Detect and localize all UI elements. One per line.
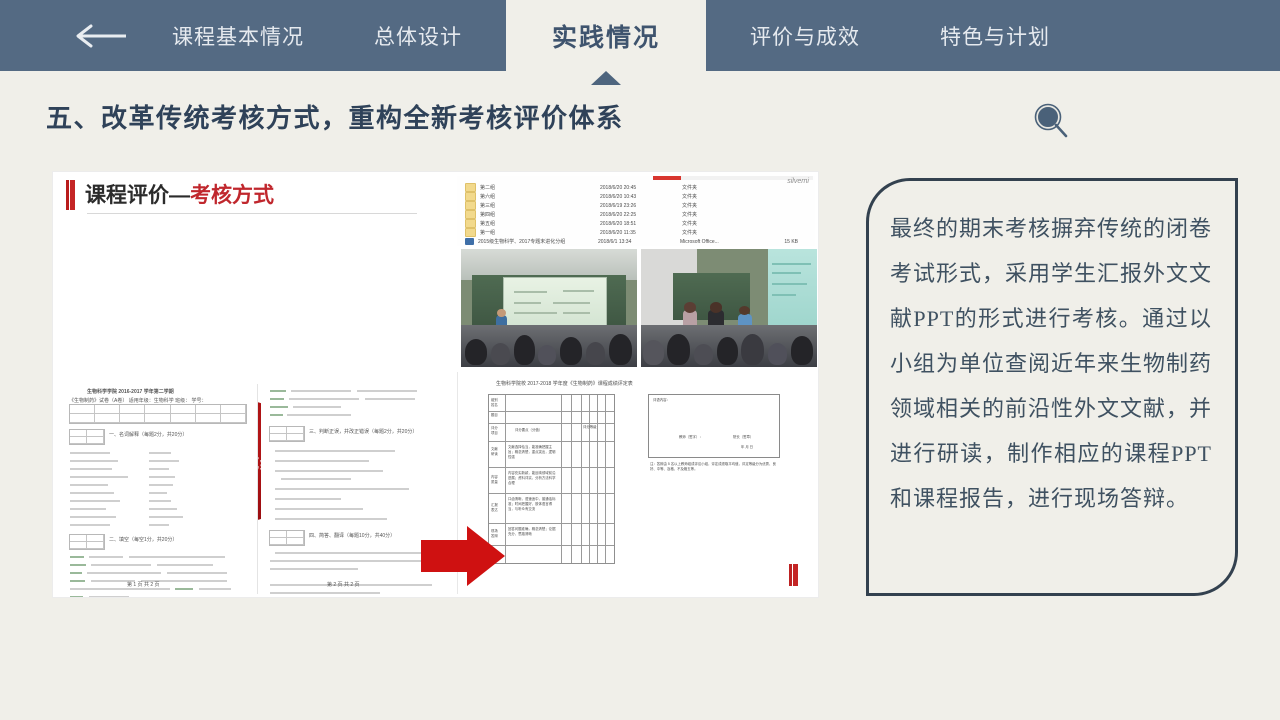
nav-spacer xyxy=(484,0,506,71)
tab-course-basics[interactable]: 课程基本情况 xyxy=(150,0,326,71)
red-bar-decoration xyxy=(66,180,75,210)
file-row[interactable]: 第五组 2018/6/20 18:51 文件夹 xyxy=(465,219,810,228)
file-size: 15 KB xyxy=(758,239,798,245)
tab-features-plan[interactable]: 特色与计划 xyxy=(918,0,1072,71)
file-date: 2018/6/20 10:43 xyxy=(600,194,682,200)
file-row[interactable]: 第四组 2018/6/20 22:25 文件夹 xyxy=(465,210,810,219)
exam-paper-page-left: 生物科学学院 2016-2017 学年第二学期 《生物制药》试卷（A卷） 适用年… xyxy=(61,384,258,594)
section-score-box xyxy=(269,426,305,442)
signature-date-field: 年 月 日 xyxy=(741,445,753,450)
folder-icon xyxy=(465,210,476,219)
classroom-photo-1 xyxy=(461,249,637,367)
file-type: 文件夹 xyxy=(682,202,760,209)
tab-practice-status[interactable]: 实践情况 xyxy=(506,0,706,71)
audience-row xyxy=(461,325,637,367)
arrow-right-icon xyxy=(421,524,505,588)
powerpoint-icon xyxy=(465,238,474,245)
file-name: 第一组 xyxy=(480,229,600,236)
presenter-head xyxy=(684,302,696,313)
file-type: Microsoft Office... xyxy=(680,239,758,245)
file-date: 2018/6/20 22:25 xyxy=(600,212,682,218)
folder-icon xyxy=(465,192,476,201)
file-type: 文件夹 xyxy=(682,229,760,236)
tab-evaluation-results[interactable]: 评价与成效 xyxy=(728,0,882,71)
top-navbar: 课程基本情况 总体设计 实践情况 评价与成效 特色与计划 xyxy=(0,0,1280,71)
quote-text: 最终的期末考核摒弃传统的闭卷考试形式，采用学生汇报外文文献PPT的形式进行考核。… xyxy=(890,206,1212,521)
audience-row xyxy=(641,325,817,367)
file-date: 2018/6/20 18:51 xyxy=(600,221,682,227)
presenter-head xyxy=(739,306,750,315)
projection-wall xyxy=(768,249,817,327)
folder-icon xyxy=(465,201,476,210)
slide-screenshot[interactable]: 课程评价—考核方式 期末成绩 期末考核 （50%） 生物科学学院 2016-20… xyxy=(53,172,818,597)
exam-paper-heading: 生物科学学院 2016-2017 学年第二学期 xyxy=(87,388,174,395)
folder-icon xyxy=(465,219,476,228)
file-type: 文件夹 xyxy=(682,184,760,191)
red-bar-decoration xyxy=(789,564,798,586)
page-number: 第 2 页 共 2 页 xyxy=(327,581,360,588)
page-title: 五、改革传统考核方式，重构全新考核评价体系 xyxy=(46,98,624,135)
folder-icon xyxy=(465,183,476,192)
nav-spacer xyxy=(326,0,352,71)
projector-screen xyxy=(503,277,607,329)
grading-form-note: 注：答辩由 5 名以上教师组成评议小组，评定成绩取平均值，评定等级分为优秀、良好… xyxy=(650,462,780,472)
section-score-box xyxy=(269,530,305,546)
grading-table: 组别姓名 题目 评分项目 评分要点（分值） 评分等级 文献研读 文献选择恰当，能… xyxy=(488,394,615,564)
page-number: 第 1 页 共 2 页 xyxy=(127,581,160,588)
shot-title-red: 考核方式 xyxy=(190,184,274,207)
file-date: 2018/6/19 23:26 xyxy=(600,203,682,209)
file-row[interactable]: 2015级生物科学、2017专题末进化分组 2018/6/1 13:34 Mic… xyxy=(465,237,810,246)
file-row[interactable]: 第三组 2018/6/19 23:26 文件夹 xyxy=(465,201,810,210)
arrow-left-icon xyxy=(72,23,128,49)
file-date: 2018/6/20 20:45 xyxy=(600,185,682,191)
score-table xyxy=(69,404,247,424)
shot-header: 课程评价—考核方式 xyxy=(53,172,438,216)
section-2-heading: 二、填空（每空1分，共20分） xyxy=(109,536,177,543)
tab-overall-design[interactable]: 总体设计 xyxy=(352,0,484,71)
file-date: 2018/6/20 11:35 xyxy=(600,230,682,236)
section-score-box xyxy=(69,429,105,445)
file-row[interactable]: 第六组 2018/6/20 10:43 文件夹 xyxy=(465,192,810,201)
folder-icon xyxy=(465,228,476,237)
section-score-box xyxy=(69,534,105,550)
file-type: 文件夹 xyxy=(682,211,760,218)
slide-root: 课程基本情况 总体设计 实践情况 评价与成效 特色与计划 五、改革传统考核方式，… xyxy=(0,0,1280,720)
classroom-photo-2 xyxy=(641,249,817,367)
file-name: 第四组 xyxy=(480,211,600,218)
file-name: 第六组 xyxy=(480,193,600,200)
nav-spacer xyxy=(882,0,918,71)
file-date: 2018/6/1 13:34 xyxy=(598,239,680,245)
nav-spacer xyxy=(706,0,728,71)
section-1-heading: 一、名词解释（每题2分，共20分） xyxy=(109,431,187,438)
section-3-heading: 三、判断正误，并改正错误（每题2分，共20分） xyxy=(309,428,417,435)
file-row[interactable]: 第二组 2018/6/20 20:45 文件夹 xyxy=(465,183,810,192)
file-explorer-list: silverni 第二组 2018/6/20 20:45 文件夹 第六组 201… xyxy=(457,176,815,246)
file-name: 第五组 xyxy=(480,220,600,227)
file-row[interactable]: 第一组 2018/6/20 11:35 文件夹 xyxy=(465,228,810,237)
file-name: 第二组 xyxy=(480,184,600,191)
nav-tab-list: 课程基本情况 总体设计 实践情况 评价与成效 特色与计划 xyxy=(150,0,1072,71)
file-type: 文件夹 xyxy=(682,220,760,227)
section-4-heading: 四、简答、翻译（每题10分，共40分） xyxy=(309,532,395,539)
back-button[interactable] xyxy=(72,22,128,50)
search-icon xyxy=(1030,100,1074,144)
search-button[interactable] xyxy=(1030,100,1074,144)
grading-form-document: 生物科学院校 2017-2018 学年度《生物制药》课程成绩评定表 组别姓名 题… xyxy=(457,372,816,594)
title-underline xyxy=(87,213,417,214)
signature-box-label: 评语内容： xyxy=(653,398,670,403)
file-name: 第三组 xyxy=(480,202,600,209)
dean-signature-field: 院长（签章） xyxy=(733,435,753,440)
tab-practice-status-label: 实践情况 xyxy=(552,18,660,54)
grading-form-title: 生物科学院校 2017-2018 学年度《生物制药》课程成绩评定表 xyxy=(496,380,633,387)
shot-title: 课程评价—考核方式 xyxy=(85,179,274,209)
teacher-signature-field: 教师（签字）： xyxy=(679,435,703,440)
file-name: 2015级生物科学、2017专题末进化分组 xyxy=(478,238,598,245)
exam-paper-subheading: 《生物制药》试卷（A卷） 适用年级：生物科学 班级： 学号： xyxy=(69,397,207,404)
signature-box: 评语内容： 教师（签字）： 院长（签章） 年 月 日 xyxy=(648,394,780,458)
file-type: 文件夹 xyxy=(682,193,760,200)
presenter-head xyxy=(710,302,722,313)
shot-title-black: 课程评价— xyxy=(85,184,190,207)
active-tab-pointer-icon xyxy=(591,71,621,85)
